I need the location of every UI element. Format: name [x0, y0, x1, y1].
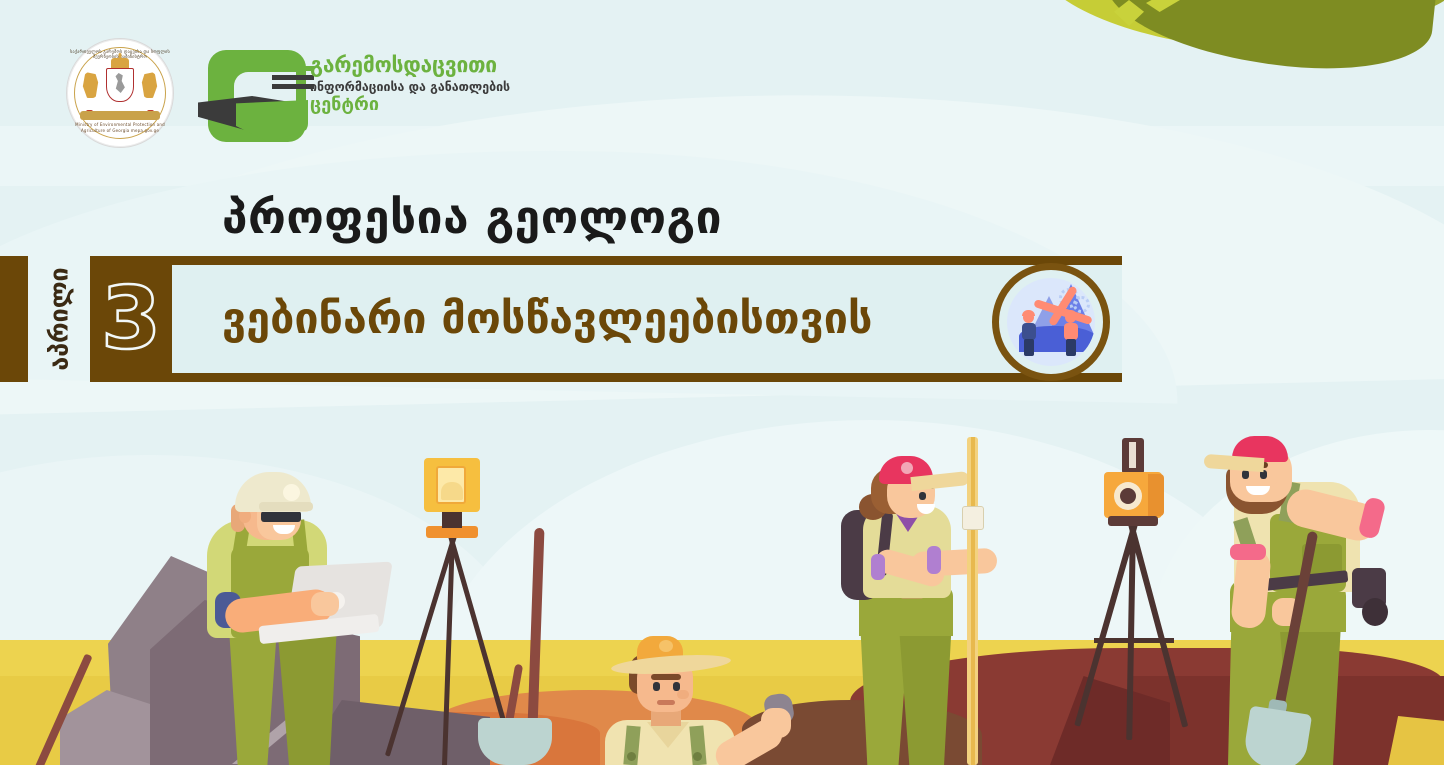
legs-shape — [1024, 339, 1034, 356]
body-shape — [1064, 323, 1078, 340]
badge-figure-left — [1021, 312, 1039, 356]
cap-brim — [1204, 454, 1265, 472]
eye-shape — [653, 682, 660, 691]
shield-icon — [106, 68, 134, 102]
slide-canvas: საქართველოს გარემოს დაცვისა და სოფლის მე… — [0, 0, 1444, 765]
tripod-leg — [1128, 523, 1188, 727]
legs-shape — [1066, 339, 1076, 356]
eiec-line-2: ინფორმაციისა და განათლების — [310, 79, 550, 95]
mouth-shape — [657, 700, 675, 705]
shovel-blade — [1242, 706, 1312, 765]
shovel-icon — [470, 700, 560, 765]
theodolite-tripod-orange — [1070, 438, 1200, 728]
sunglasses-icon — [261, 511, 301, 522]
theodolite-body-side — [1148, 474, 1164, 516]
badge-figure-right — [1063, 312, 1081, 356]
banner-subtitle-panel: ვებინარი მოსწავლეებისთვის — [172, 256, 1122, 382]
seal-english-text: Ministry of Environmental Protection and… — [66, 122, 174, 134]
eiec-line-1: გარემოსდაცვითი — [310, 54, 550, 77]
sleeve-cuff — [927, 546, 941, 574]
eiec-logo-text: გარემოსდაცვითი ინფორმაციისა და განათლები… — [310, 54, 550, 115]
nose-shape — [677, 690, 689, 699]
theodolite-lens — [1114, 482, 1142, 510]
cap-shape — [1064, 310, 1077, 316]
theodolite-window — [436, 466, 466, 504]
tripod-crossbar — [1094, 638, 1174, 643]
eiec-line-3: ცენტრი — [310, 95, 550, 115]
tripod-neck — [442, 510, 462, 528]
banner-month: აპრილი — [28, 256, 90, 382]
leg-shape — [229, 628, 277, 765]
geology-badge-icon — [992, 263, 1110, 381]
banner-subtitle: ვებინარი მოსწავლეებისთვის — [222, 294, 872, 344]
overall-button — [693, 752, 702, 761]
arm-shape — [910, 548, 997, 577]
eye-shape — [919, 492, 926, 500]
helmet-lamp-icon — [283, 484, 300, 501]
badge-illustration — [1007, 278, 1095, 366]
geologist-with-laptop — [185, 462, 405, 765]
surveyor-woman-with-rod — [835, 450, 1005, 765]
ministry-seal-logo: საქართველოს გარემოს დაცვისა და სოფლის მე… — [66, 38, 174, 148]
shovel-shaft — [1272, 531, 1318, 721]
shovel-blade — [478, 718, 552, 765]
eyebrow-shape — [651, 674, 681, 680]
tripod-post — [1122, 438, 1144, 474]
gear-icon — [1073, 296, 1090, 313]
hand-shape — [761, 708, 791, 738]
rod-stripe — [971, 437, 975, 765]
rod-clip — [962, 506, 984, 530]
tripod-head-plate — [1108, 516, 1158, 526]
page-title: პროფესია გეოლოგი — [222, 190, 722, 244]
helmet-brim — [259, 502, 313, 511]
overall-button — [627, 752, 636, 761]
leg-shape — [277, 624, 337, 765]
open-book-leaf-icon — [202, 50, 314, 142]
cap-detail — [901, 462, 913, 474]
banner-day-number: 3 — [101, 276, 161, 362]
body-shape — [1022, 323, 1036, 340]
shovel-icon — [1238, 530, 1358, 765]
banner-left-edge — [0, 256, 28, 382]
header-logos: საქართველოს გარემოს დაცვისა და სოფლის მე… — [0, 0, 1444, 160]
hand-shape — [311, 592, 339, 616]
sleeve-cuff — [871, 554, 885, 580]
hat-detail — [659, 640, 673, 652]
banner-month-label: აპრილი — [45, 267, 74, 370]
logo-lines — [272, 66, 314, 96]
eiec-logo: გარემოსდაცვითი ინფორმაციისა და განათლები… — [202, 42, 542, 142]
tool-pouch-round — [1362, 598, 1388, 626]
banner-day-block: 3 — [90, 256, 172, 382]
seal-scroll — [80, 111, 160, 120]
cap-shape — [1022, 310, 1035, 316]
saint-george-figure — [113, 73, 127, 93]
event-banner: აპრილი 3 ვებინარი მოსწავლეებისთვის — [0, 256, 1122, 382]
eye-shape — [1242, 470, 1249, 479]
crown-icon — [111, 58, 129, 68]
geologist-with-rock-sample — [585, 622, 815, 765]
